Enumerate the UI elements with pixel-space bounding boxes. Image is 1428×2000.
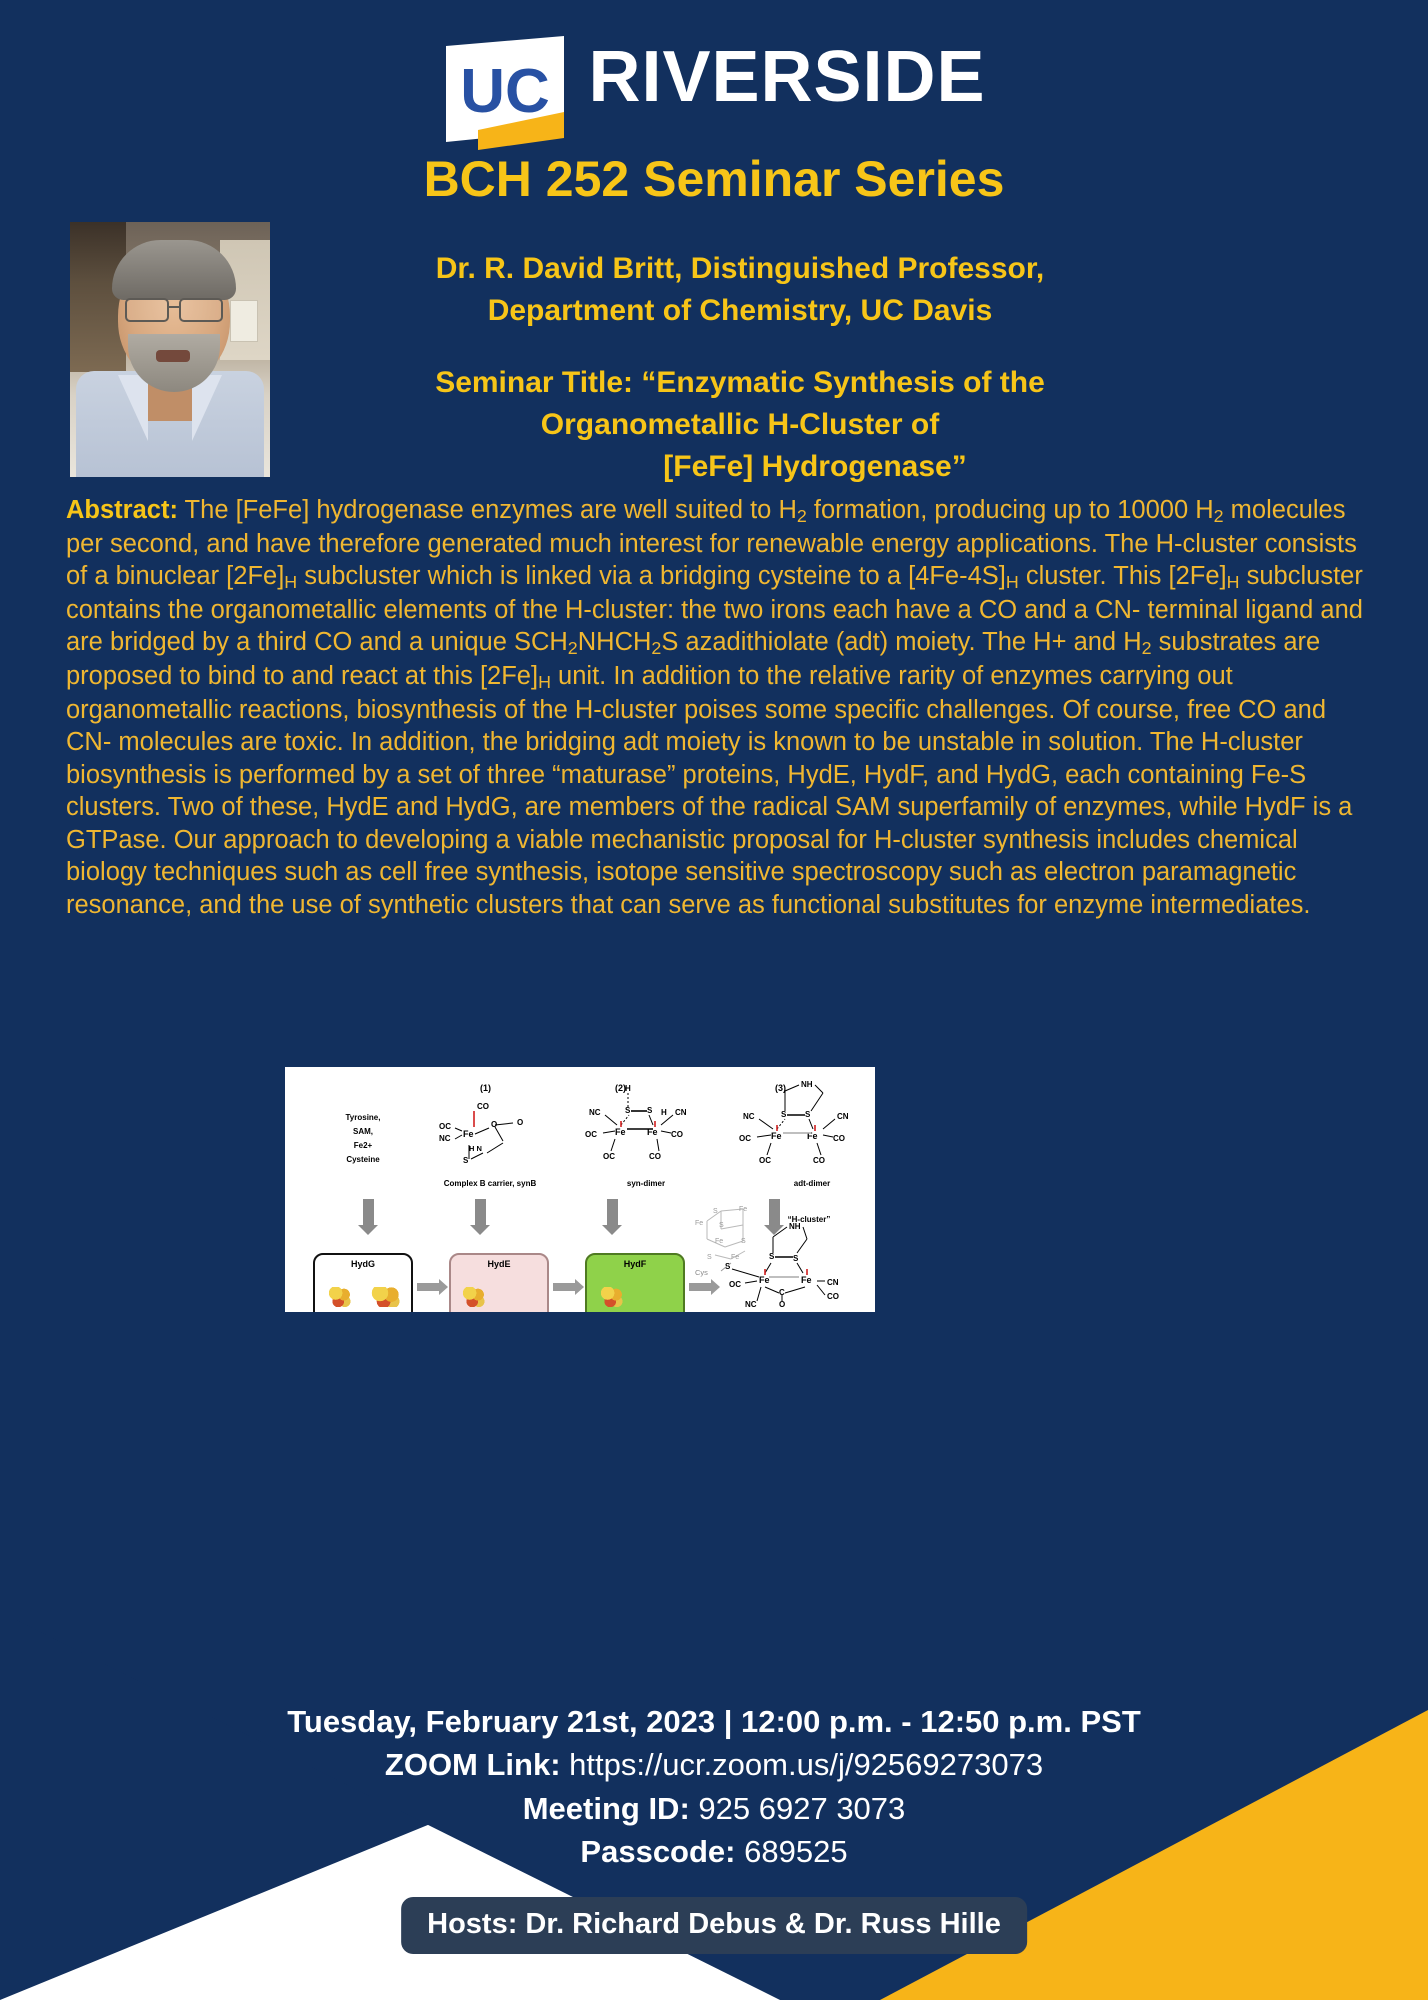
- scheme-arrow-right-2: [553, 1283, 575, 1291]
- svg-text:S: S: [781, 1110, 787, 1119]
- scheme-step-1: (1): [480, 1083, 491, 1093]
- seminar-poster: UC RIVERSIDE BCH 252 Seminar Series Dr. …: [0, 0, 1428, 2000]
- scheme-arrow-down-3: [607, 1199, 618, 1225]
- svg-text:Fe: Fe: [771, 1131, 782, 1141]
- zoom-link-label: ZOOM Link:: [385, 1747, 561, 1782]
- svg-text:NH: NH: [789, 1222, 801, 1231]
- scheme-arrow-down-2: [475, 1199, 486, 1225]
- svg-text:S: S: [647, 1106, 653, 1115]
- svg-text:S: S: [707, 1254, 712, 1261]
- svg-text:H N: H N: [469, 1144, 482, 1153]
- abstract-paragraph: Abstract: The [FeFe] hydrogenase enzymes…: [66, 494, 1366, 921]
- svg-text:O: O: [517, 1118, 523, 1127]
- svg-text:CN: CN: [827, 1278, 839, 1287]
- scheme-hcluster-structure: S Fe Fe S Fe S S Fe NH S S Cys S Fe Fe O…: [685, 1203, 875, 1312]
- speaker-line-2: Department of Chemistry, UC Davis: [300, 290, 1180, 332]
- svg-text:NC: NC: [745, 1300, 757, 1309]
- event-zoom-link-row: ZOOM Link: https://ucr.zoom.us/j/9256927…: [0, 1743, 1428, 1786]
- svg-text:NH: NH: [801, 1080, 813, 1089]
- svg-text:Fe: Fe: [615, 1127, 626, 1137]
- svg-text:CN: CN: [837, 1112, 849, 1121]
- svg-text:CO: CO: [477, 1102, 489, 1111]
- scheme-molecule-3: NH S S NC CN Fe Fe OC CO OC CO: [733, 1073, 869, 1173]
- scheme-protein-hydg: HydG: [313, 1253, 413, 1312]
- event-meeting-id-row: Meeting ID: 925 6927 3073: [0, 1787, 1428, 1830]
- svg-text:H: H: [625, 1084, 631, 1093]
- svg-text:OC: OC: [729, 1280, 741, 1289]
- hosts-badge: Hosts: Dr. Richard Debus & Dr. Russ Hill…: [401, 1897, 1027, 1954]
- scheme-arrow-right-1: [417, 1283, 439, 1291]
- scheme-protein-label-2: HydE: [451, 1259, 547, 1269]
- svg-text:UC: UC: [461, 57, 551, 126]
- svg-text:NC: NC: [743, 1112, 755, 1121]
- biosynthesis-scheme-figure: Tyrosine, SAM, Fe2+ Cysteine (1) (2) (3)…: [285, 1067, 875, 1312]
- scheme-reactant-3: Fe2+: [321, 1141, 405, 1150]
- svg-text:OC: OC: [739, 1134, 751, 1143]
- meeting-id-label: Meeting ID:: [523, 1791, 690, 1826]
- passcode-label: Passcode:: [580, 1834, 735, 1869]
- svg-text:Fe: Fe: [463, 1129, 474, 1139]
- svg-text:OC: OC: [603, 1152, 615, 1161]
- svg-text:CO: CO: [671, 1130, 683, 1139]
- event-passcode-row: Passcode: 689525: [0, 1830, 1428, 1873]
- svg-text:Fe: Fe: [759, 1275, 770, 1285]
- scheme-molecule-1: CO OC NC Fe O O H N S: [425, 1097, 555, 1167]
- scheme-reactant-2: SAM,: [321, 1127, 405, 1136]
- svg-text:CO: CO: [649, 1152, 661, 1161]
- uc-banner-icon: UC: [442, 34, 574, 150]
- svg-text:CO: CO: [813, 1156, 825, 1165]
- svg-text:S: S: [713, 1208, 718, 1215]
- svg-text:Fe: Fe: [715, 1238, 723, 1245]
- ucr-logo: UC RIVERSIDE: [0, 34, 1428, 150]
- scheme-caption-1: Complex B carrier, synB: [417, 1179, 563, 1188]
- svg-text:OC: OC: [585, 1130, 597, 1139]
- event-details: Tuesday, February 21st, 2023 | 12:00 p.m…: [0, 1700, 1428, 1874]
- svg-text:Cys: Cys: [695, 1268, 708, 1277]
- svg-text:S: S: [625, 1106, 631, 1115]
- uc-logo-mark: UC: [442, 34, 574, 150]
- seminar-title-line-1: Seminar Title: “Enzymatic Synthesis of t…: [300, 362, 1180, 404]
- logo-wordmark: RIVERSIDE: [588, 34, 985, 122]
- svg-text:CO: CO: [833, 1134, 845, 1143]
- scheme-protein-hydf: HydF: [585, 1253, 685, 1312]
- passcode-value: 689525: [744, 1834, 847, 1869]
- scheme-protein-label-1: HydG: [315, 1259, 411, 1269]
- svg-text:Fe: Fe: [801, 1275, 812, 1285]
- svg-text:CO: CO: [827, 1292, 839, 1301]
- svg-text:Fe: Fe: [731, 1254, 739, 1261]
- svg-text:S: S: [719, 1222, 724, 1229]
- svg-text:OC: OC: [439, 1122, 451, 1131]
- svg-text:H: H: [661, 1108, 667, 1117]
- scheme-reactant-4: Cysteine: [321, 1155, 405, 1164]
- svg-text:OC: OC: [759, 1156, 771, 1165]
- speaker-info: Dr. R. David Britt, Distinguished Profes…: [300, 248, 1180, 488]
- scheme-arrow-down-4: [769, 1199, 780, 1225]
- scheme-caption-2: syn-dimer: [591, 1179, 701, 1188]
- svg-text:S: S: [769, 1252, 775, 1261]
- svg-text:CN: CN: [675, 1108, 687, 1117]
- scheme-molecule-2: H S S H NC CN Fe Fe OC CO OC CO: [575, 1081, 705, 1173]
- svg-text:S: S: [741, 1238, 746, 1245]
- svg-text:Fe: Fe: [695, 1220, 703, 1227]
- speaker-line-1: Dr. R. David Britt, Distinguished Profes…: [300, 248, 1180, 290]
- meeting-id-value: 925 6927 3073: [698, 1791, 905, 1826]
- zoom-link-url[interactable]: https://ucr.zoom.us/j/92569273073: [569, 1747, 1043, 1782]
- svg-text:S: S: [793, 1254, 799, 1263]
- scheme-arrow-down-1: [363, 1199, 374, 1225]
- abstract-body: The [FeFe] hydrogenase enzymes are well …: [66, 496, 1363, 919]
- speaker-photo: [70, 222, 270, 477]
- svg-text:O: O: [779, 1300, 785, 1309]
- scheme-caption-3: adt-dimer: [757, 1179, 867, 1188]
- abstract-label: Abstract:: [66, 496, 178, 524]
- svg-text:NC: NC: [589, 1108, 601, 1117]
- svg-text:NC: NC: [439, 1134, 451, 1143]
- scheme-reactant-1: Tyrosine,: [321, 1113, 405, 1122]
- scheme-protein-hyde: HydE: [449, 1253, 549, 1312]
- svg-text:S: S: [805, 1110, 811, 1119]
- seminar-title-line-3: [FeFe] Hydrogenase”: [300, 446, 1180, 488]
- event-datetime: Tuesday, February 21st, 2023 | 12:00 p.m…: [0, 1700, 1428, 1743]
- seminar-title: Seminar Title: “Enzymatic Synthesis of t…: [300, 362, 1180, 488]
- svg-text:Fe: Fe: [739, 1206, 747, 1213]
- scheme-protein-label-3: HydF: [587, 1259, 683, 1269]
- series-title: BCH 252 Seminar Series: [0, 150, 1428, 208]
- svg-text:S: S: [463, 1156, 469, 1165]
- seminar-title-line-2: Organometallic H-Cluster of: [300, 404, 1180, 446]
